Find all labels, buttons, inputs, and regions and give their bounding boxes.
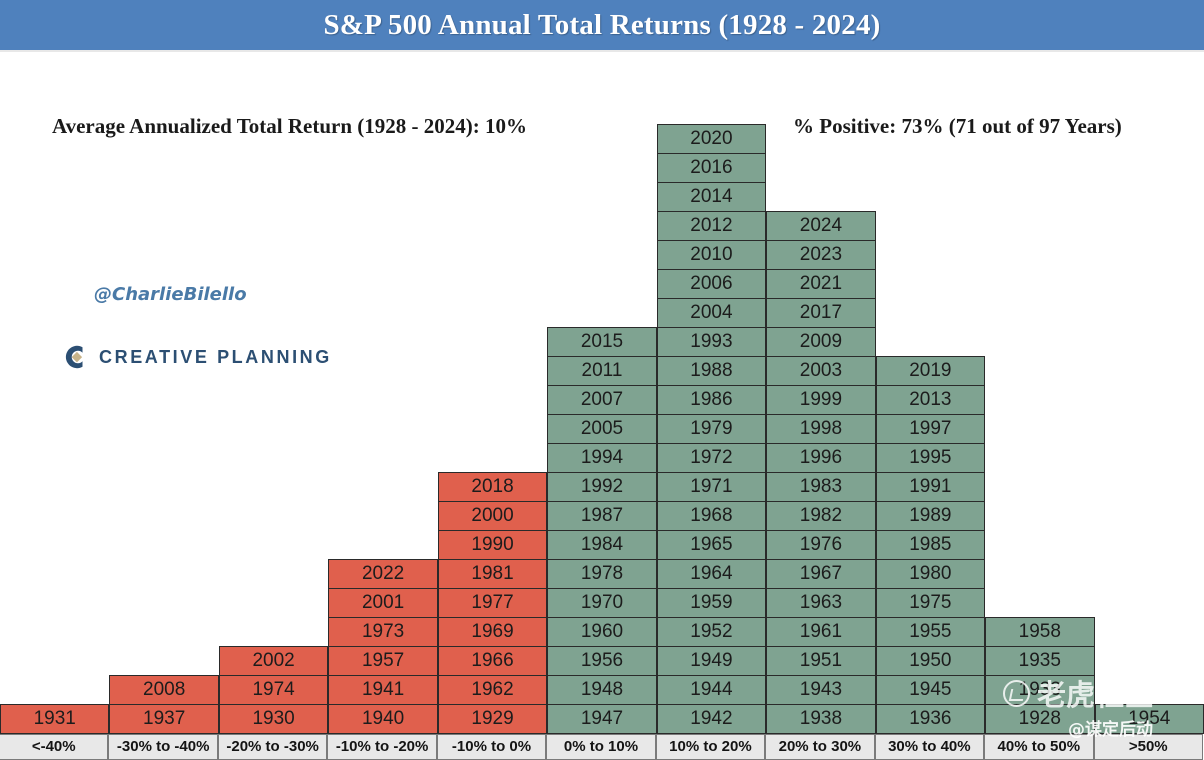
year-cell[interactable]: 1936	[876, 704, 985, 734]
year-cell[interactable]: 2006	[657, 269, 766, 299]
year-cell[interactable]: 1985	[876, 530, 985, 560]
year-cell[interactable]: 2000	[438, 501, 547, 531]
axis-bucket-label: 0% to 10%	[546, 734, 655, 760]
year-cell[interactable]: 1964	[657, 559, 766, 589]
histogram-column: 2020201620142012201020062004199319881986…	[657, 125, 766, 734]
year-cell[interactable]: 1990	[438, 530, 547, 560]
year-cell[interactable]: 1974	[219, 675, 328, 705]
year-cell[interactable]: 1976	[766, 530, 875, 560]
year-cell[interactable]: 1949	[657, 646, 766, 676]
year-cell[interactable]: 1978	[547, 559, 656, 589]
axis-bucket-label: -10% to -20%	[327, 734, 436, 760]
year-cell[interactable]: 2008	[109, 675, 218, 705]
year-cell[interactable]: 2005	[547, 414, 656, 444]
year-cell[interactable]: 2003	[766, 356, 875, 386]
year-cell[interactable]: 1937	[109, 704, 218, 734]
year-cell[interactable]: 1928	[985, 704, 1094, 734]
year-cell[interactable]: 1980	[876, 559, 985, 589]
year-cell[interactable]: 2022	[328, 559, 437, 589]
year-cell[interactable]: 1943	[766, 675, 875, 705]
year-cell[interactable]: 1959	[657, 588, 766, 618]
histogram-column: 2024202320212017200920031999199819961983…	[766, 212, 875, 734]
year-cell[interactable]: 1967	[766, 559, 875, 589]
year-cell[interactable]: 1940	[328, 704, 437, 734]
year-cell[interactable]: 1952	[657, 617, 766, 647]
year-cell[interactable]: 1968	[657, 501, 766, 531]
chart-page: S&P 500 Annual Total Returns (1928 - 202…	[0, 0, 1204, 760]
year-cell[interactable]: 2019	[876, 356, 985, 386]
year-cell[interactable]: 1961	[766, 617, 875, 647]
year-cell[interactable]: 1981	[438, 559, 547, 589]
year-cell[interactable]: 2015	[547, 327, 656, 357]
axis-bucket-label: -20% to -30%	[218, 734, 327, 760]
histogram-column: 201820001990198119771969196619621929	[438, 473, 547, 734]
year-cell[interactable]: 2013	[876, 385, 985, 415]
year-cell[interactable]: 1997	[876, 414, 985, 444]
histogram-column: 1931	[0, 705, 109, 734]
year-cell[interactable]: 1994	[547, 443, 656, 473]
year-cell[interactable]: 2004	[657, 298, 766, 328]
year-cell[interactable]: 1950	[876, 646, 985, 676]
axis-bucket-label: <-40%	[0, 734, 108, 760]
year-cell[interactable]: 1955	[876, 617, 985, 647]
year-cell[interactable]: 1975	[876, 588, 985, 618]
year-cell[interactable]: 1983	[766, 472, 875, 502]
year-cell[interactable]: 1948	[547, 675, 656, 705]
year-cell[interactable]: 1970	[547, 588, 656, 618]
year-cell[interactable]: 1989	[876, 501, 985, 531]
year-cell[interactable]: 1982	[766, 501, 875, 531]
year-cell[interactable]: 1945	[876, 675, 985, 705]
year-cell[interactable]: 1992	[547, 472, 656, 502]
histogram-column: 2015201120072005199419921987198419781970…	[547, 328, 656, 734]
axis-bucket-label: 20% to 30%	[765, 734, 874, 760]
histogram-column: 2019201319971995199119891985198019751955…	[876, 357, 985, 734]
year-cell[interactable]: 1957	[328, 646, 437, 676]
year-cell[interactable]: 1972	[657, 443, 766, 473]
year-cell[interactable]: 1929	[438, 704, 547, 734]
year-cell[interactable]: 1995	[876, 443, 985, 473]
year-cell[interactable]: 1969	[438, 617, 547, 647]
year-cell[interactable]: 1984	[547, 530, 656, 560]
axis-bucket-label: -10% to 0%	[437, 734, 546, 760]
year-cell[interactable]: 1935	[985, 646, 1094, 676]
axis-bucket-label: 40% to 50%	[984, 734, 1093, 760]
year-cell[interactable]: 1987	[547, 501, 656, 531]
axis-bucket-label: >50%	[1094, 734, 1203, 760]
year-cell[interactable]: 1998	[766, 414, 875, 444]
year-cell[interactable]: 2017	[766, 298, 875, 328]
year-cell[interactable]: 2014	[657, 182, 766, 212]
returns-histogram: 1931<-40%20081937-30% to -40%20021974193…	[0, 52, 1204, 760]
year-cell[interactable]: 1999	[766, 385, 875, 415]
year-cell[interactable]: 2009	[766, 327, 875, 357]
year-cell[interactable]: 2024	[766, 211, 875, 241]
year-cell[interactable]: 1956	[547, 646, 656, 676]
year-cell[interactable]: 1971	[657, 472, 766, 502]
year-cell[interactable]: 1947	[547, 704, 656, 734]
histogram-column: 202220011973195719411940	[328, 560, 437, 734]
year-cell[interactable]: 2002	[219, 646, 328, 676]
year-cell[interactable]: 2020	[657, 124, 766, 154]
year-cell[interactable]: 1996	[766, 443, 875, 473]
year-cell[interactable]: 1973	[328, 617, 437, 647]
histogram-column: 20081937	[109, 676, 218, 734]
year-cell[interactable]: 2001	[328, 588, 437, 618]
year-cell[interactable]: 1993	[657, 327, 766, 357]
histogram-column: 1958193519331928	[985, 618, 1094, 734]
year-cell[interactable]: 1938	[766, 704, 875, 734]
year-cell[interactable]: 1966	[438, 646, 547, 676]
year-cell[interactable]: 1954	[1095, 704, 1204, 734]
title-bar: S&P 500 Annual Total Returns (1928 - 202…	[0, 0, 1204, 52]
year-cell[interactable]: 1986	[657, 385, 766, 415]
year-cell[interactable]: 2011	[547, 356, 656, 386]
year-cell[interactable]: 2012	[657, 211, 766, 241]
year-cell[interactable]: 1951	[766, 646, 875, 676]
year-cell[interactable]: 2007	[547, 385, 656, 415]
axis-bucket-label: 10% to 20%	[656, 734, 765, 760]
year-cell[interactable]: 2021	[766, 269, 875, 299]
year-cell[interactable]: 1962	[438, 675, 547, 705]
year-cell[interactable]: 1942	[657, 704, 766, 734]
year-cell[interactable]: 1958	[985, 617, 1094, 647]
axis-bucket-label: 30% to 40%	[875, 734, 984, 760]
year-cell[interactable]: 1991	[876, 472, 985, 502]
year-cell[interactable]: 1933	[985, 675, 1094, 705]
year-cell[interactable]: 1931	[0, 704, 109, 734]
year-cell[interactable]: 1963	[766, 588, 875, 618]
year-cell[interactable]: 1944	[657, 675, 766, 705]
histogram-column: 200219741930	[219, 647, 328, 734]
year-cell[interactable]: 1965	[657, 530, 766, 560]
year-cell[interactable]: 2018	[438, 472, 547, 502]
year-cell[interactable]: 1977	[438, 588, 547, 618]
year-cell[interactable]: 1930	[219, 704, 328, 734]
year-cell[interactable]: 2016	[657, 153, 766, 183]
year-cell[interactable]: 1988	[657, 356, 766, 386]
year-cell[interactable]: 2010	[657, 240, 766, 270]
year-cell[interactable]: 1960	[547, 617, 656, 647]
page-title: S&P 500 Annual Total Returns (1928 - 202…	[0, 0, 1204, 52]
histogram-column: 1954	[1095, 705, 1204, 734]
axis-bucket-label: -30% to -40%	[108, 734, 217, 760]
year-cell[interactable]: 1979	[657, 414, 766, 444]
year-cell[interactable]: 2023	[766, 240, 875, 270]
year-cell[interactable]: 1941	[328, 675, 437, 705]
